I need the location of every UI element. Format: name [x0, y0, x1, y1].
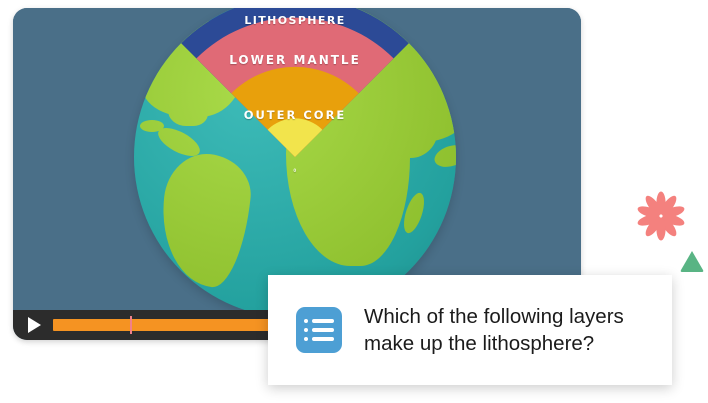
layer-label-lower-mantle: LOWER MANTLE — [134, 53, 456, 67]
layer-label-lithosphere: LITHOSPHERE — [134, 14, 456, 27]
list-icon-dot — [304, 337, 308, 341]
list-icon-row — [304, 319, 334, 323]
layer-label-inner-core: 0 — [134, 168, 456, 173]
play-icon — [28, 317, 41, 333]
list-icon-bar — [312, 337, 334, 341]
list-icon-bar — [312, 328, 334, 332]
triangle-icon — [679, 249, 705, 273]
list-icon-row — [304, 328, 334, 332]
list-icon — [296, 307, 342, 353]
list-icon-bar — [312, 319, 334, 323]
flower-icon — [634, 189, 688, 243]
play-button[interactable] — [13, 310, 53, 340]
layer-label-outer-core: OUTER CORE — [134, 108, 456, 122]
question-text: Which of the following layers make up th… — [364, 303, 672, 357]
list-icon-dot — [304, 319, 308, 323]
layer-label-group: LITHOSPHERE LOWER MANTLE OUTER CORE 0 — [134, 8, 456, 310]
list-icon-row — [304, 337, 334, 341]
question-card[interactable]: Which of the following layers make up th… — [268, 275, 672, 385]
list-icon-dot — [304, 328, 308, 332]
video-stage[interactable]: LITHOSPHERE LOWER MANTLE OUTER CORE 0 — [13, 8, 581, 310]
progress-marker[interactable] — [130, 316, 132, 334]
